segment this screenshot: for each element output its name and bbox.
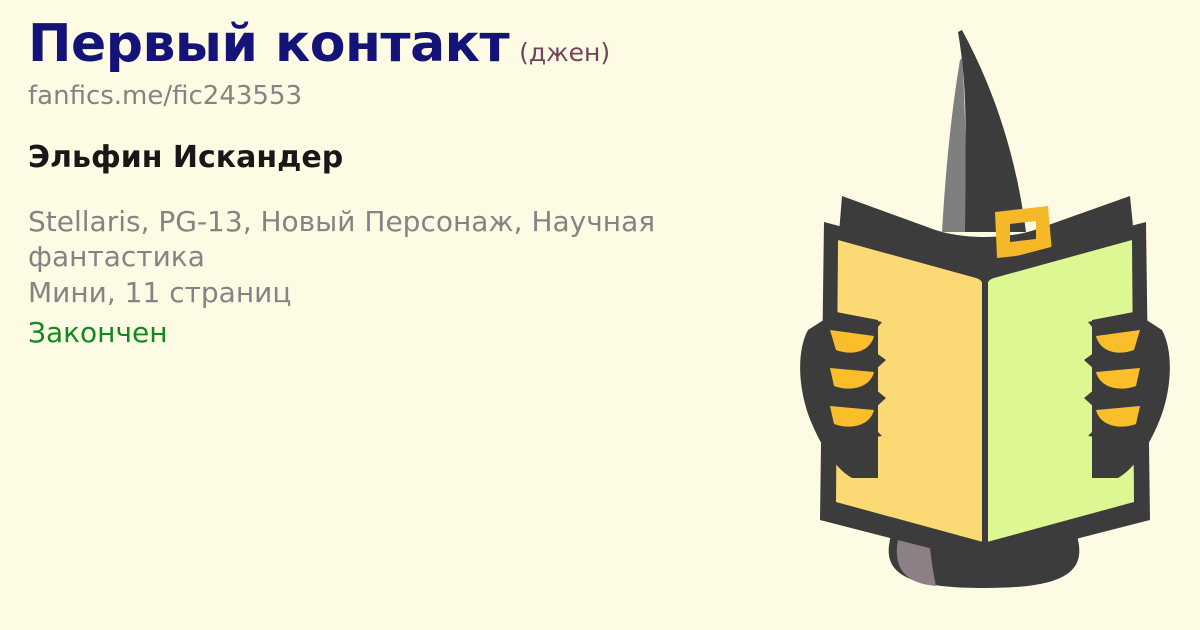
wizard-reading-book-illustration	[790, 0, 1180, 630]
right-hand-claw	[1084, 312, 1170, 478]
title-category-label: (джен)	[519, 38, 610, 67]
wizard-illustration-svg	[790, 0, 1180, 630]
left-hand-claw	[800, 312, 886, 478]
hat-highlight-shape	[942, 58, 966, 232]
page-title: Первый контакт	[28, 14, 509, 74]
metadata-block: Stellaris, PG-13, Новый Персонаж, Научна…	[28, 204, 798, 351]
status-badge: Закончен	[28, 315, 798, 351]
wizard-hat-shape	[958, 30, 1026, 232]
title-row: Первый контакт(джен)	[28, 18, 798, 70]
source-url[interactable]: fanfics.me/fic243553	[28, 82, 798, 111]
size-line: Мини, 11 страниц	[28, 275, 798, 311]
tags-line: Stellaris, PG-13, Новый Персонаж, Научна…	[28, 204, 768, 276]
book-spine-line	[982, 280, 988, 556]
fanfic-preview-card: Первый контакт(джен) fanfics.me/fic24355…	[0, 0, 1200, 630]
text-column: Первый контакт(джен) fanfics.me/fic24355…	[28, 18, 798, 351]
author-name[interactable]: Эльфин Искандер	[28, 141, 798, 174]
